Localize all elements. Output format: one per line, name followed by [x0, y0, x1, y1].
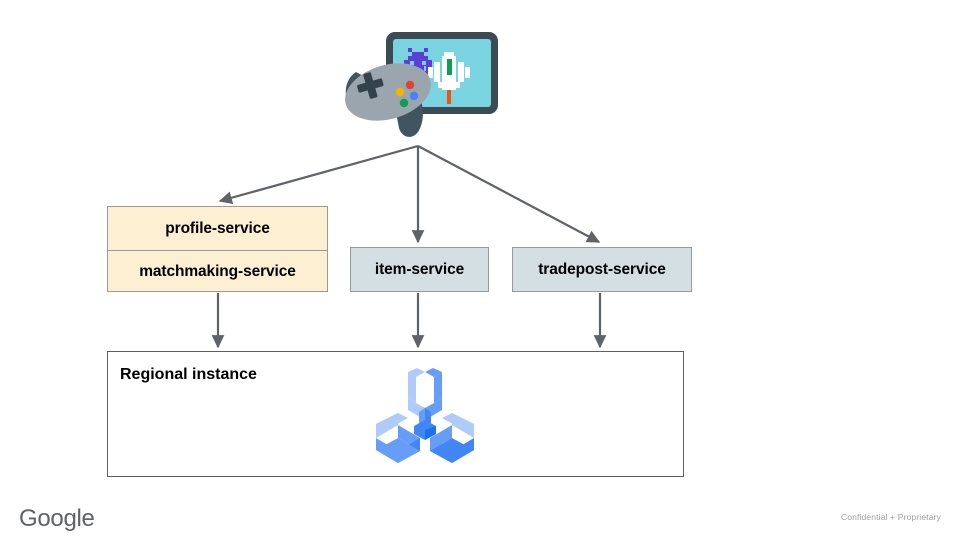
service-box-matchmaking-service[interactable]: matchmaking-service [108, 250, 327, 293]
service-box-tradepost-service[interactable]: tradepost-service [512, 247, 692, 292]
confidentiality-note: Confidential + Proprietary [841, 512, 941, 522]
slide-canvas: profile-service matchmaking-service item… [0, 0, 960, 540]
edge-client-to-tradepost [418, 146, 599, 242]
game-console-client-icon [338, 28, 510, 150]
google-wordmark-svg: Google [19, 504, 139, 534]
gke-cluster-icon [370, 368, 480, 472]
regional-instance-title: Regional instance [120, 366, 257, 384]
service-group-profile[interactable]: profile-service matchmaking-service [107, 206, 328, 292]
edge-client-to-profile [220, 146, 418, 201]
regional-instance-container[interactable]: Regional instance [107, 351, 684, 477]
service-box-item-service-label: item-service [351, 248, 488, 291]
client-illustration-svg [338, 28, 510, 150]
gke-cluster-icon-svg [370, 368, 480, 472]
google-logo: Google [19, 504, 139, 534]
service-box-profile-service[interactable]: profile-service [108, 207, 327, 250]
service-box-item-service[interactable]: item-service [350, 247, 489, 292]
service-box-tradepost-service-label: tradepost-service [513, 248, 691, 291]
google-logo-text: Google [19, 505, 95, 532]
